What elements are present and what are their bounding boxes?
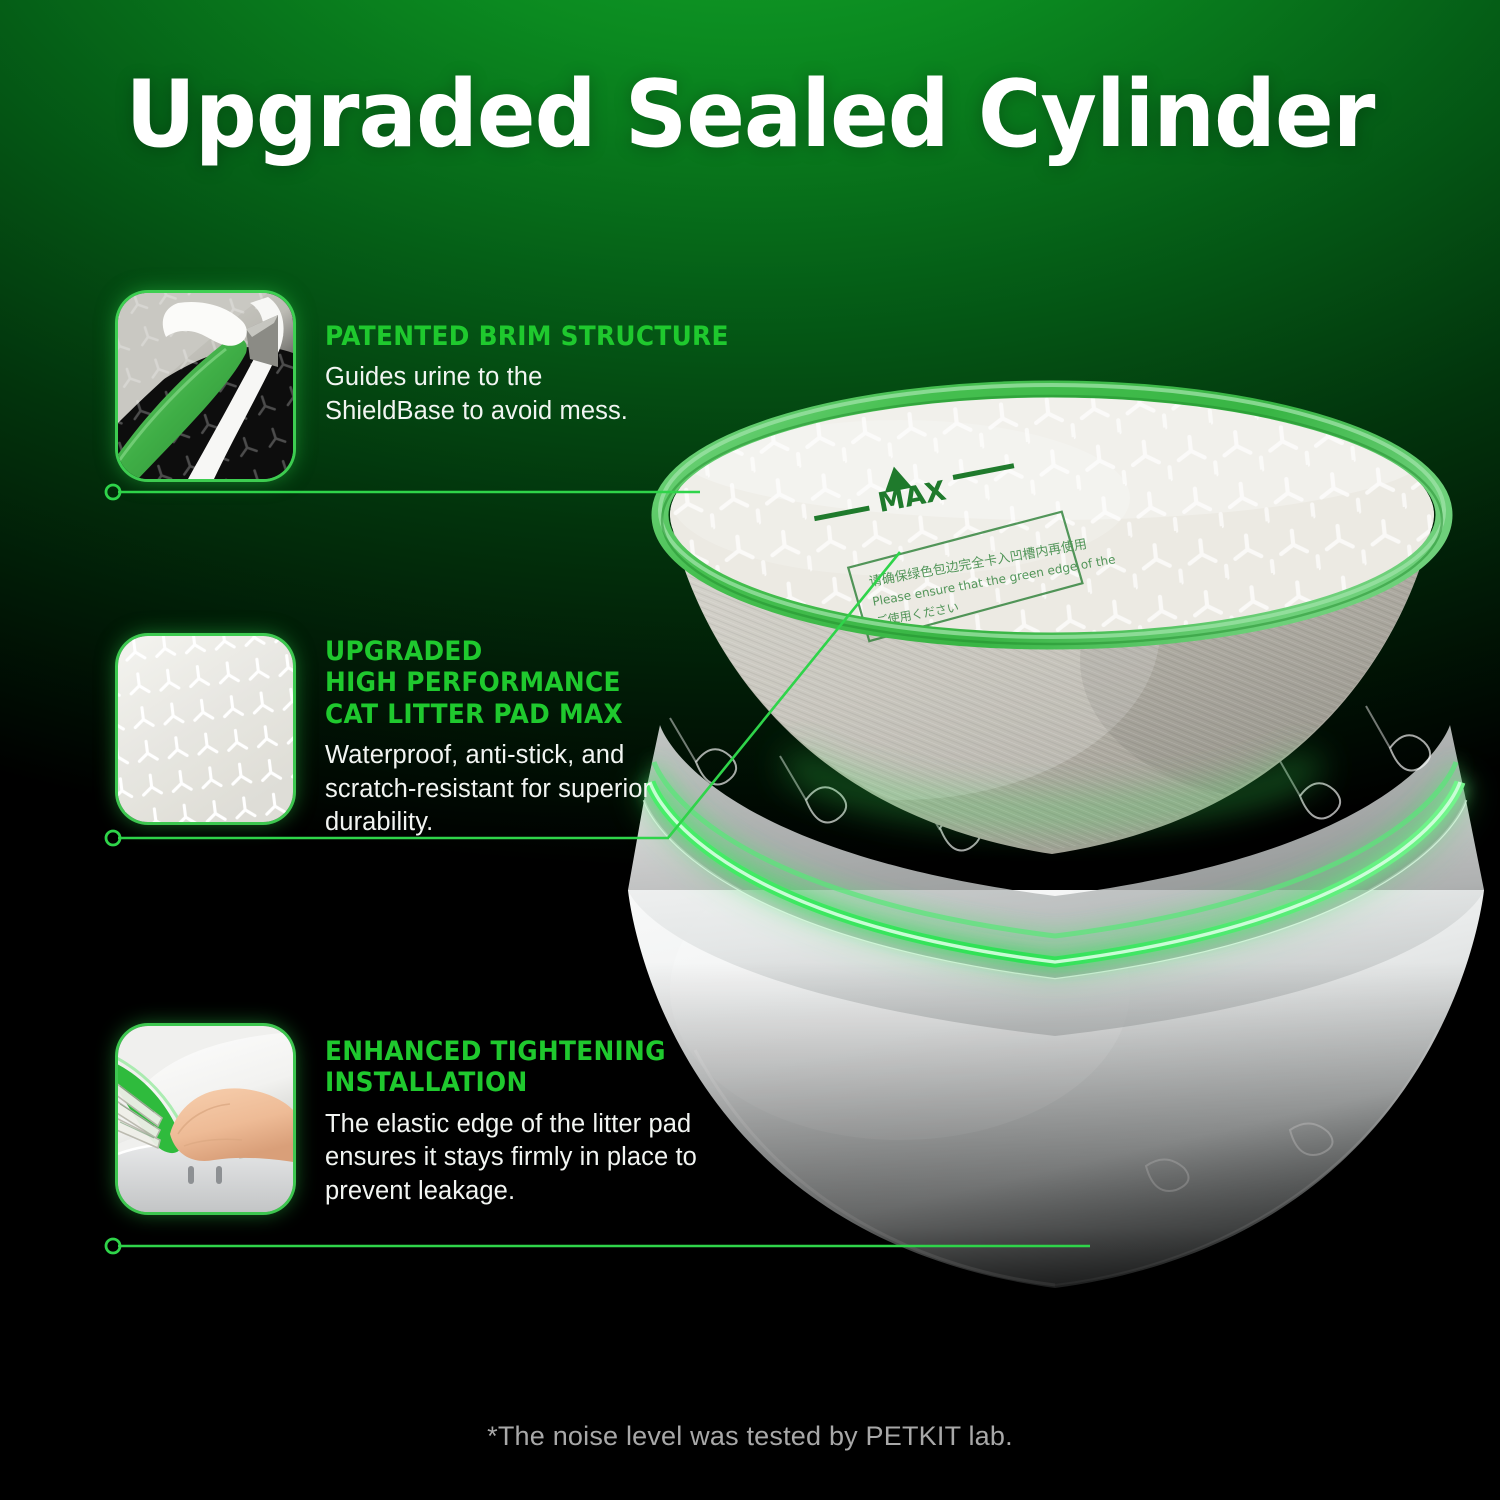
hand-pulling-elastic-edge-icon	[118, 1026, 293, 1212]
feature-body: Guides urine to the ShieldBase to avoid …	[325, 361, 764, 428]
page-title: Upgraded Sealed Cylinder	[53, 60, 1448, 168]
product-illustration: MAX 请确保绿色包边完全卡入凹槽内再使用 Please ensure that…	[600, 330, 1500, 1350]
brim-cross-section-icon	[118, 293, 293, 479]
feature-heading: PATENTED BRIM STRUCTURE	[325, 321, 729, 352]
feature-cat-litter-pad-max: UPGRADED HIGH PERFORMANCE CAT LITTER PAD…	[118, 636, 651, 840]
feature-patented-brim-structure: PATENTED BRIM STRUCTURE Guides urine to …	[118, 293, 764, 479]
footnote: *The noise level was tested by PETKIT la…	[0, 1421, 1500, 1452]
feature-heading: UPGRADED HIGH PERFORMANCE CAT LITTER PAD…	[325, 636, 625, 730]
feature-enhanced-tightening-installation: ENHANCED TIGHTENING INSTALLATION The ela…	[118, 1026, 697, 1212]
feature-heading: ENHANCED TIGHTENING INSTALLATION	[325, 1036, 667, 1099]
feature-body: The elastic edge of the litter pad ensur…	[325, 1108, 697, 1209]
litter-pad-texture-icon	[118, 636, 293, 822]
feature-body: Waterproof, anti-stick, and scratch-resi…	[325, 739, 651, 840]
